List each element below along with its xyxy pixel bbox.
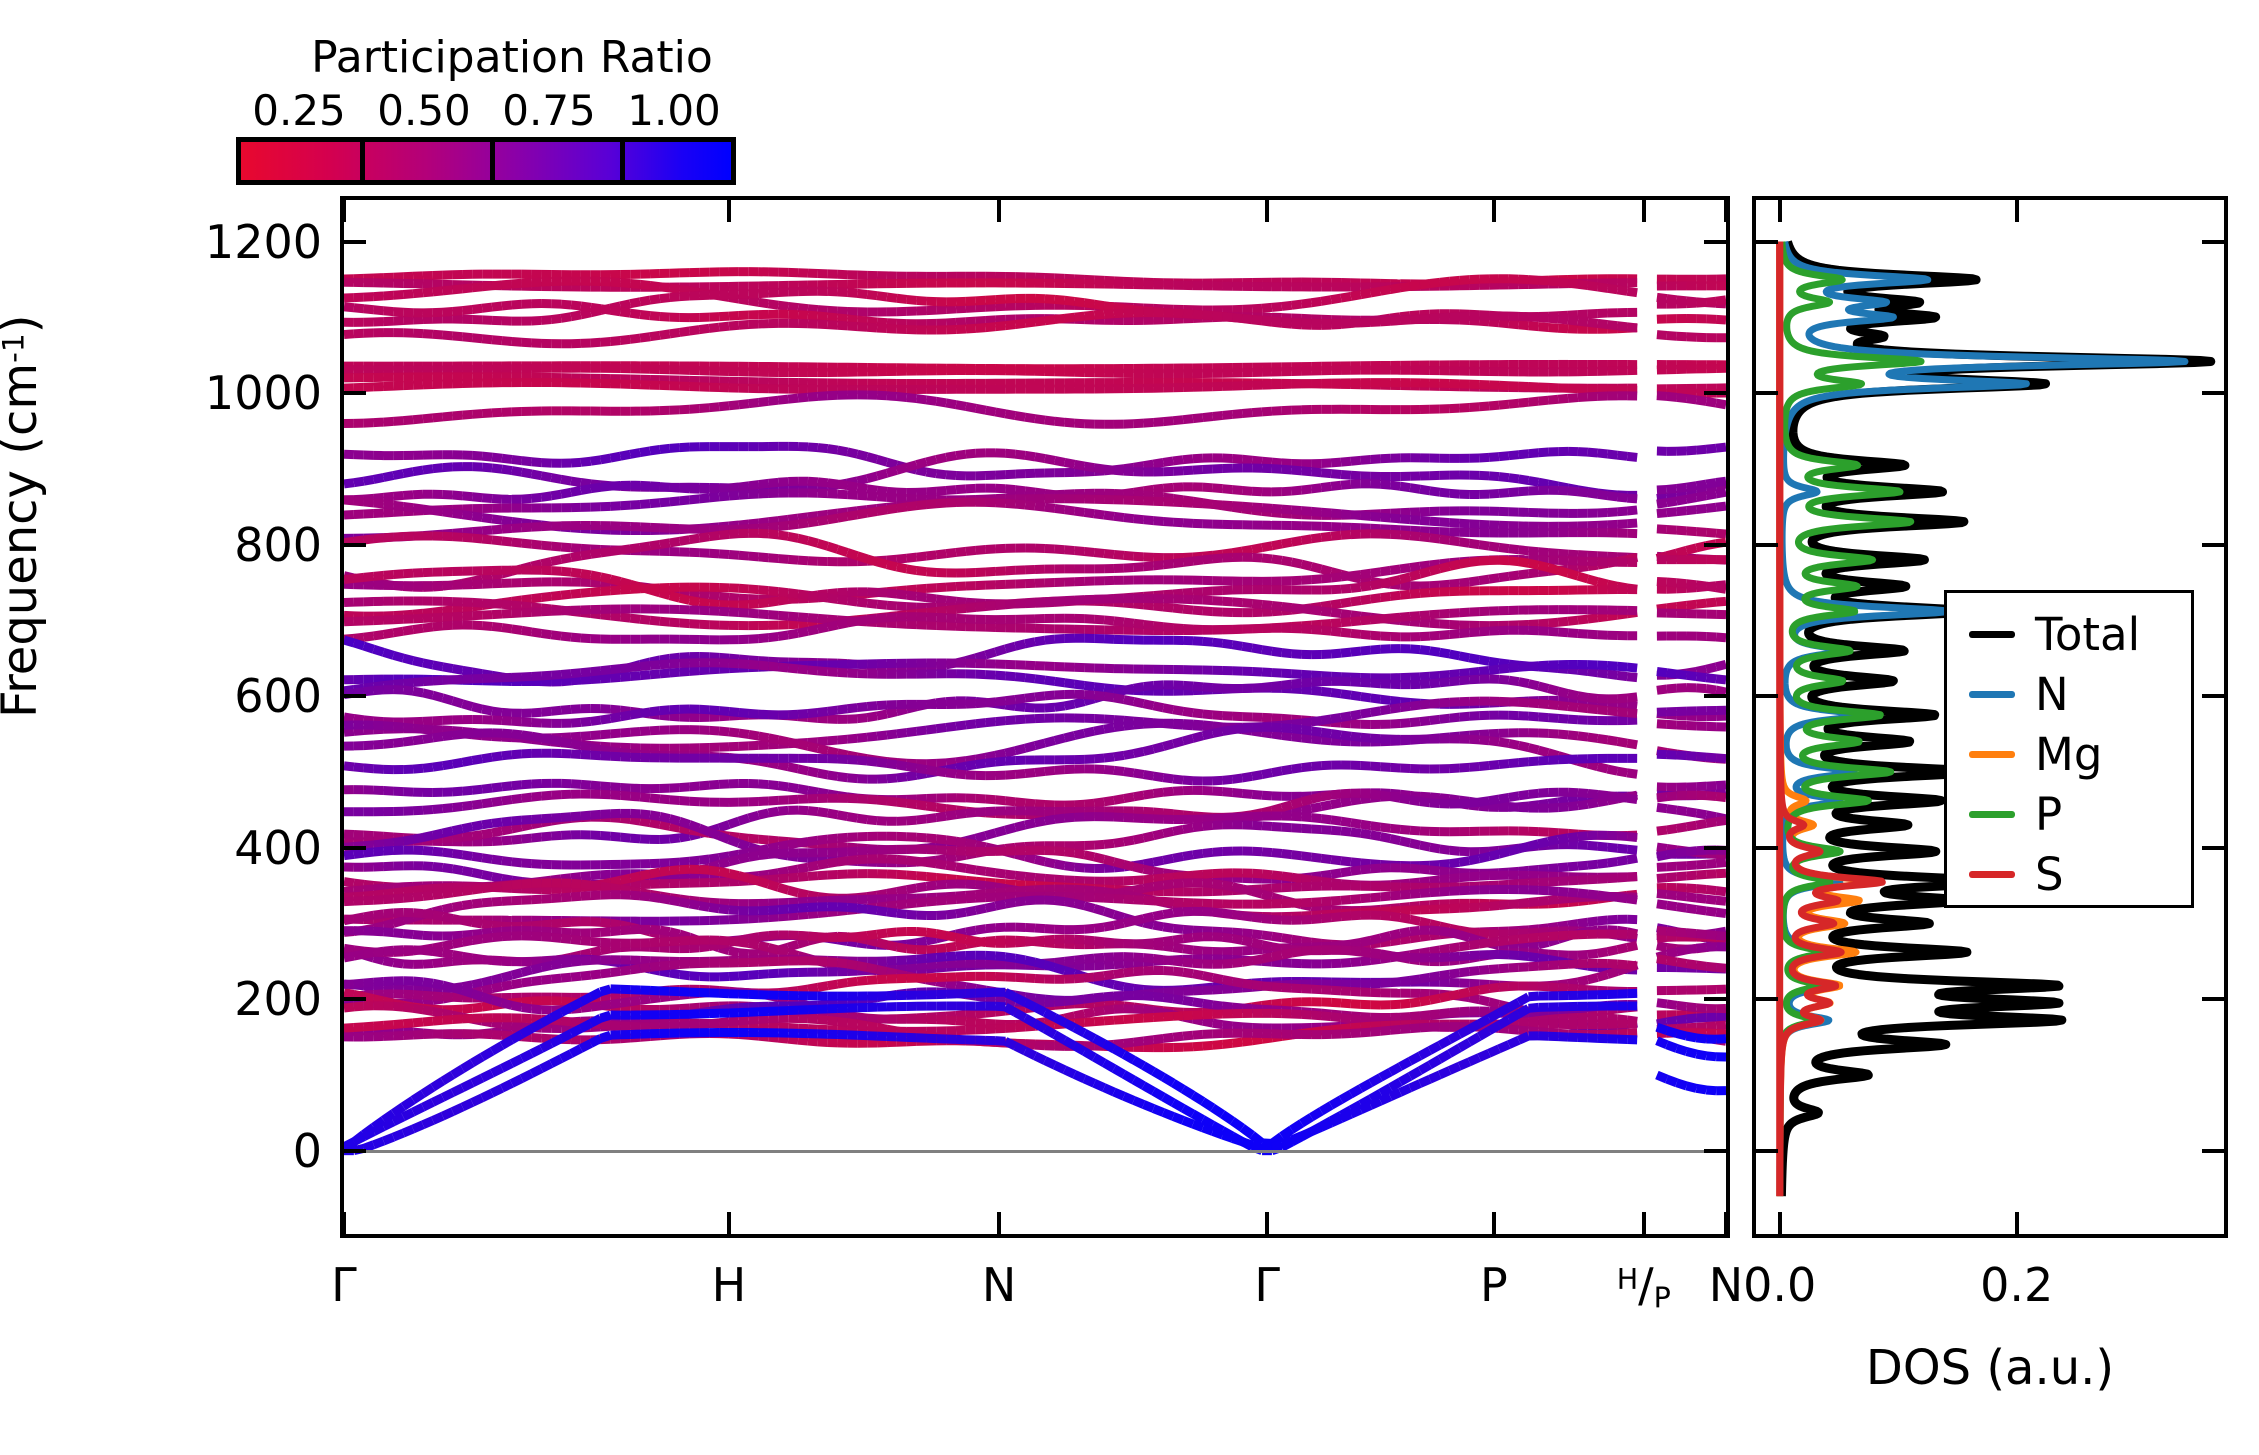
dos-y-tick-3-right: [2202, 694, 2224, 698]
legend-swatch-total: [1969, 631, 2015, 638]
dos-y-tick-4-right: [2202, 543, 2224, 547]
band-x-tick-1-top: [727, 200, 731, 222]
legend-swatch-mg: [1969, 751, 2015, 758]
band-x-tick-5-top: [1642, 200, 1646, 222]
legend-item-s: S: [1947, 845, 2191, 905]
dos-y-tick-5-right: [2202, 391, 2224, 395]
band-x-tick-label-3: Γ: [1254, 1258, 1280, 1312]
band-y-tick-4-right: [1704, 543, 1726, 547]
legend-item-p: P: [1947, 785, 2191, 845]
band-x-tick-4-top: [1492, 200, 1496, 222]
band-x-tick-label-6: N: [1709, 1258, 1743, 1312]
band-y-tick-5-right: [1704, 391, 1726, 395]
band-x-tick-3-bottom: [1265, 1212, 1269, 1234]
band-y-tick-label-2: 400: [0, 821, 322, 875]
colorbar-tick-label-1: 0.50: [377, 86, 471, 135]
band-x-tick-0-top: [342, 200, 346, 222]
legend-label-mg: Mg: [2035, 727, 2102, 783]
colorbar-tick-0: [360, 142, 365, 180]
legend-item-total: Total: [1947, 605, 2191, 665]
frequency-axis-label-close: ): [0, 314, 48, 333]
band-y-tick-2: [344, 846, 366, 850]
dos-y-tick-4-left: [1756, 543, 1778, 547]
band-x-tick-label-2: N: [982, 1258, 1016, 1312]
colorbar-tick-label-2: 0.75: [502, 86, 596, 135]
band-x-tick-label-4: P: [1480, 1258, 1508, 1312]
dos-y-tick-6-right: [2202, 240, 2224, 244]
band-y-tick-5: [344, 391, 366, 395]
frequency-axis-label-text: Frequency (cm: [0, 363, 48, 718]
frequency-axis-label-exponent: -1: [0, 333, 32, 363]
legend-swatch-n: [1969, 691, 2015, 698]
figure-root: Participation Ratio 0.250.500.751.00 020…: [0, 0, 2259, 1455]
band-y-tick-1: [344, 997, 366, 1001]
dos-y-tick-1-right: [2202, 997, 2224, 1001]
band-y-tick-3-right: [1704, 694, 1726, 698]
dos-axis-label: DOS (a.u.): [1752, 1340, 2228, 1396]
dos-y-tick-3-left: [1756, 694, 1778, 698]
dos-y-tick-1-left: [1756, 997, 1778, 1001]
zero-frequency-line: [344, 1150, 1726, 1153]
band-y-tick-6: [344, 240, 366, 244]
band-y-tick-label-4: 800: [0, 518, 322, 572]
band-x-tick-2-top: [997, 200, 1001, 222]
dos-x-tick-1-top: [2015, 200, 2019, 222]
colorbar-tick-label-0: 0.25: [252, 86, 346, 135]
legend-item-n: N: [1947, 665, 2191, 725]
band-y-tick-label-6: 1200: [0, 215, 322, 269]
band-y-tick-1-right: [1704, 997, 1726, 1001]
dos-y-tick-5-left: [1756, 391, 1778, 395]
legend-label-s: S: [2035, 847, 2064, 903]
band-y-tick-label-3: 600: [0, 669, 322, 723]
band-x-tick-3-top: [1265, 200, 1269, 222]
band-x-tick-label-0: Γ: [331, 1258, 357, 1312]
band-x-tick-6-bottom: [1724, 1212, 1728, 1234]
colorbar-gradient: [241, 142, 731, 180]
band-y-tick-label-5: 1000: [0, 366, 322, 420]
dos-x-tick-0-top: [1778, 200, 1782, 222]
legend-label-p: P: [2035, 787, 2062, 843]
band-y-tick-3: [344, 694, 366, 698]
dos-y-tick-0-right: [2202, 1149, 2224, 1153]
band-y-tick-6-right: [1704, 240, 1726, 244]
band-x-tick-0-bottom: [342, 1212, 346, 1234]
band-structure-plot: [340, 196, 1730, 1238]
band-x-tick-label-5: H/P: [1617, 1258, 1671, 1314]
dos-y-tick-2-right: [2202, 846, 2224, 850]
band-plot-area: [344, 200, 1726, 1234]
band-x-tick-4-bottom: [1492, 1212, 1496, 1234]
band-y-tick-label-0: 0: [0, 1124, 322, 1178]
colorbar-tick-2: [620, 142, 625, 180]
colorbar-tick-labels: 0.250.500.751.00: [0, 86, 1024, 132]
band-x-tick-6-top: [1724, 200, 1728, 222]
band-y-tick-0-right: [1704, 1149, 1726, 1153]
band-x-tick-label-1: H: [712, 1258, 747, 1312]
frequency-axis-label: Frequency (cm-1): [0, 314, 48, 718]
dos-x-tick-label-1: 0.2: [1980, 1258, 2053, 1312]
dos-y-tick-6-left: [1756, 240, 1778, 244]
dos-x-tick-1-bottom: [2015, 1212, 2019, 1234]
legend-swatch-p: [1969, 811, 2015, 818]
band-y-tick-2-right: [1704, 846, 1726, 850]
band-y-tick-4: [344, 543, 366, 547]
band-curves: [344, 200, 1726, 1234]
dos-legend: TotalNMgPS: [1944, 590, 2194, 908]
legend-item-mg: Mg: [1947, 725, 2191, 785]
dos-y-tick-2-left: [1756, 846, 1778, 850]
band-y-tick-label-1: 200: [0, 972, 322, 1026]
colorbar-tick-label-3: 1.00: [627, 86, 721, 135]
legend-swatch-s: [1969, 871, 2015, 878]
band-x-tick-2-bottom: [997, 1212, 1001, 1234]
colorbar-title: Participation Ratio: [0, 32, 1024, 83]
colorbar: [236, 137, 736, 185]
dos-x-tick-label-0: 0.0: [1743, 1258, 1816, 1312]
band-y-tick-0: [344, 1149, 366, 1153]
legend-label-n: N: [2035, 667, 2069, 723]
dos-x-tick-0-bottom: [1778, 1212, 1782, 1234]
legend-label-total: Total: [2035, 607, 2140, 663]
colorbar-tick-1: [490, 142, 495, 180]
dos-y-tick-0-left: [1756, 1149, 1778, 1153]
band-x-tick-5-bottom: [1642, 1212, 1646, 1234]
band-x-tick-1-bottom: [727, 1212, 731, 1234]
